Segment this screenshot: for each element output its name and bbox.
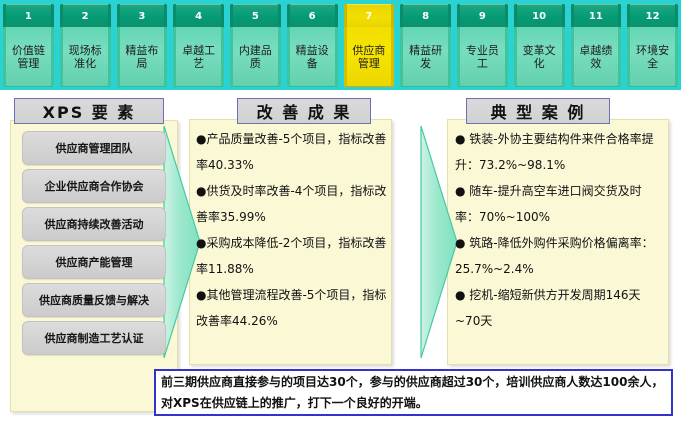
- element-number: 7: [344, 4, 395, 28]
- element-number: 12: [627, 4, 678, 28]
- summary-text: 前三期供应商直接参与的项目达30个，参与的供应商超过30个，培训供应商人数达10…: [156, 372, 671, 414]
- bullet-line: ● 挖机-缩短新供方开发周期146天~70天: [455, 282, 664, 334]
- right-arrow-icon-2: [420, 124, 458, 360]
- list-item[interactable]: 供应商制造工艺认证: [22, 321, 166, 355]
- typical-cases-list: ● 铁装-外协主要结构件来件合格率提升：73.2%~98.1% ● 随车-提升高…: [455, 126, 664, 334]
- element-number: 3: [117, 4, 168, 28]
- element-number: 8: [400, 4, 451, 28]
- element-label: 卓越工艺: [173, 27, 224, 87]
- element-cell-11[interactable]: 11 卓越绩效: [568, 0, 625, 90]
- element-cell-6[interactable]: 6 精益设备: [284, 0, 341, 90]
- xps-element-bar: 1 价值链管理 2 现场标准化 3 精益布局 4 卓越工艺 5 内建品质 6 精…: [0, 0, 681, 90]
- element-label: 专业员工: [457, 27, 508, 87]
- element-cell-4[interactable]: 4 卓越工艺: [170, 0, 227, 90]
- element-cell-1[interactable]: 1 价值链管理: [0, 0, 57, 90]
- xps-element-list: 供应商管理团队 企业供应商合作协会 供应商持续改善活动 供应商产能管理 供应商质…: [22, 131, 166, 355]
- element-label: 内建品质: [230, 27, 281, 87]
- list-item[interactable]: 供应商持续改善活动: [22, 207, 166, 241]
- element-number: 4: [173, 4, 224, 28]
- element-label: 供应商管理: [344, 27, 395, 87]
- element-label: 价值链管理: [3, 27, 54, 87]
- summary-banner: 前三期供应商直接参与的项目达30个，参与的供应商超过30个，培训供应商人数达10…: [154, 369, 673, 416]
- element-label: 环境安全: [627, 27, 678, 87]
- element-cell-7-active[interactable]: 7 供应商管理: [341, 0, 398, 90]
- element-number: 9: [457, 4, 508, 28]
- element-number: 11: [571, 4, 622, 28]
- heading-improvement-results: 改 善 成 果: [237, 98, 371, 124]
- element-cell-12[interactable]: 12 环境安全: [624, 0, 681, 90]
- bullet-line: ●产品质量改善-5个项目，指标改善率40.33%: [196, 126, 387, 178]
- element-number: 2: [60, 4, 111, 28]
- list-item[interactable]: 供应商质量反馈与解决: [22, 283, 166, 317]
- element-number: 6: [287, 4, 338, 28]
- element-cell-8[interactable]: 8 精益研发: [397, 0, 454, 90]
- element-cell-2[interactable]: 2 现场标准化: [57, 0, 114, 90]
- list-item[interactable]: 供应商产能管理: [22, 245, 166, 279]
- list-item[interactable]: 企业供应商合作协会: [22, 169, 166, 203]
- element-number: 10: [514, 4, 565, 28]
- bullet-line: ● 随车-提升高空车进口阀交货及时率：70%~100%: [455, 178, 664, 230]
- element-label: 精益设备: [287, 27, 338, 87]
- list-item[interactable]: 供应商管理团队: [22, 131, 166, 165]
- element-label: 卓越绩效: [571, 27, 622, 87]
- heading-typical-cases: 典 型 案 例: [466, 98, 610, 124]
- bullet-line: ● 筑路-降低外购件采购价格偏离率：25.7%~2.4%: [455, 230, 664, 282]
- element-label: 精益布局: [117, 27, 168, 87]
- element-cell-3[interactable]: 3 精益布局: [114, 0, 171, 90]
- element-cell-9[interactable]: 9 专业员工: [454, 0, 511, 90]
- element-number: 5: [230, 4, 281, 28]
- element-number: 1: [3, 4, 54, 28]
- element-label: 变革文化: [514, 27, 565, 87]
- element-cell-5[interactable]: 5 内建品质: [227, 0, 284, 90]
- element-label: 精益研发: [400, 27, 451, 87]
- bullet-line: ●采购成本降低-2个项目，指标改善率11.88%: [196, 230, 387, 282]
- bullet-line: ●其他管理流程改善-5个项目，指标改善率44.26%: [196, 282, 387, 334]
- improvement-results-list: ●产品质量改善-5个项目，指标改善率40.33% ●供货及时率改善-4个项目，指…: [196, 126, 387, 334]
- heading-xps-elements: XPS 要 素: [14, 98, 164, 124]
- bullet-line: ● 铁装-外协主要结构件来件合格率提升：73.2%~98.1%: [455, 126, 664, 178]
- element-label: 现场标准化: [60, 27, 111, 87]
- element-cell-10[interactable]: 10 变革文化: [511, 0, 568, 90]
- bullet-line: ●供货及时率改善-4个项目，指标改善率35.99%: [196, 178, 387, 230]
